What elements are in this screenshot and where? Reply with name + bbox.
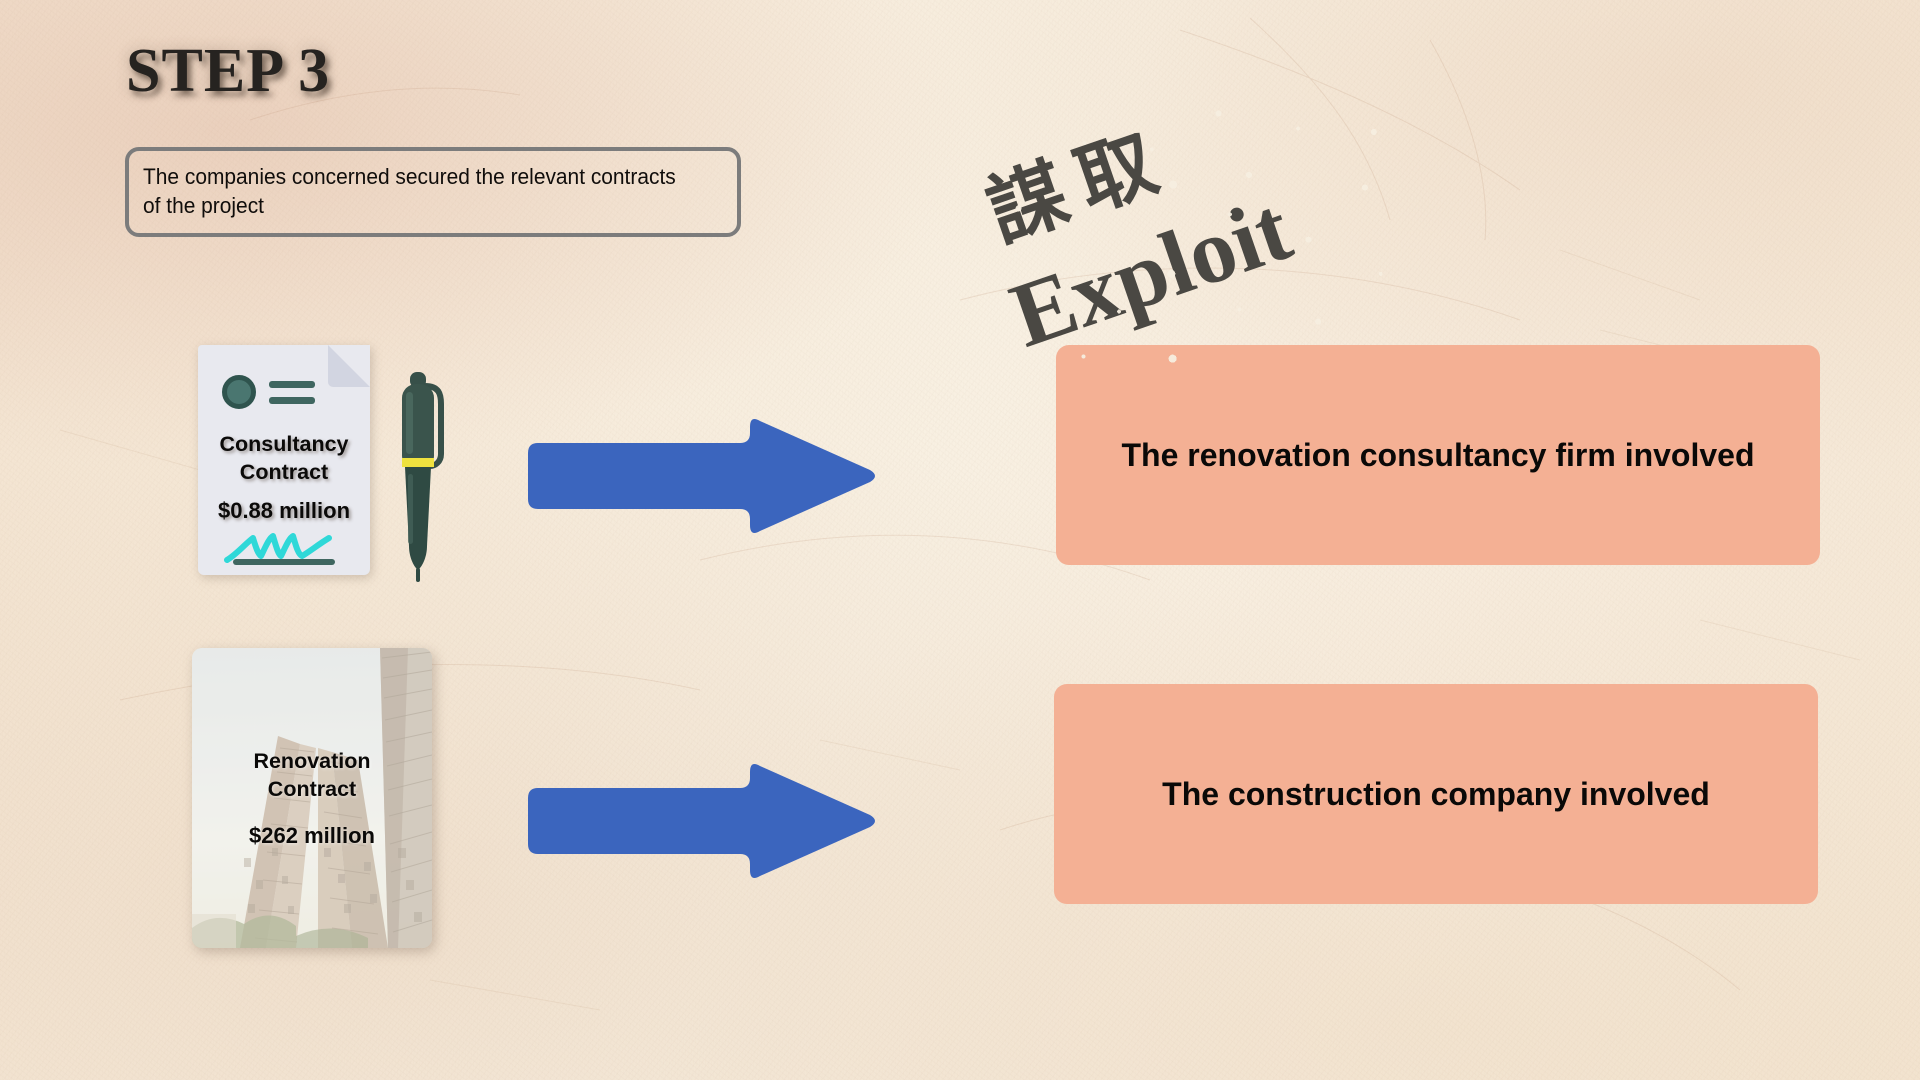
slide-canvas: STEP 3 The companies concerned secured t… xyxy=(0,0,1920,1080)
page-title: STEP 3 xyxy=(126,36,330,107)
text-lines-icon xyxy=(269,381,315,404)
right-arrow-icon xyxy=(514,415,882,537)
seal-circle-icon xyxy=(222,375,256,409)
signature-icon xyxy=(223,528,347,568)
consultancy-contract-title: Consultancy Contract xyxy=(198,431,370,486)
stamp-chinese-text: 謀取 xyxy=(970,96,1184,263)
consultancy-contract-card: Consultancy Contract $0.88 million xyxy=(198,345,370,575)
contract-document-icon xyxy=(222,375,315,409)
right-arrow-icon xyxy=(514,760,882,882)
renovation-title-line-2: Contract xyxy=(192,776,432,804)
contract-title-line-2: Contract xyxy=(198,459,370,487)
result-label-consultancy: The renovation consultancy firm involved xyxy=(1121,436,1754,474)
contract-title-line-1: Consultancy xyxy=(198,431,370,459)
page-fold-corner-icon xyxy=(328,345,370,387)
caption-text: The companies concerned secured the rele… xyxy=(143,162,682,221)
renovation-contract-amount: $262 million xyxy=(192,823,432,849)
renovation-contract-card: Renovation Contract $262 million xyxy=(192,648,432,948)
stamp-english-text: Exploit xyxy=(998,175,1303,368)
result-box-consultancy: The renovation consultancy firm involved xyxy=(1056,345,1820,565)
renovation-title-line-1: Renovation xyxy=(192,748,432,776)
renovation-contract-title: Renovation Contract xyxy=(192,748,432,804)
caption-box: The companies concerned secured the rele… xyxy=(125,147,741,237)
result-box-construction: The construction company involved xyxy=(1054,684,1818,904)
pen-icon xyxy=(385,370,453,585)
consultancy-contract-amount: $0.88 million xyxy=(198,498,370,524)
result-label-construction: The construction company involved xyxy=(1162,775,1710,813)
